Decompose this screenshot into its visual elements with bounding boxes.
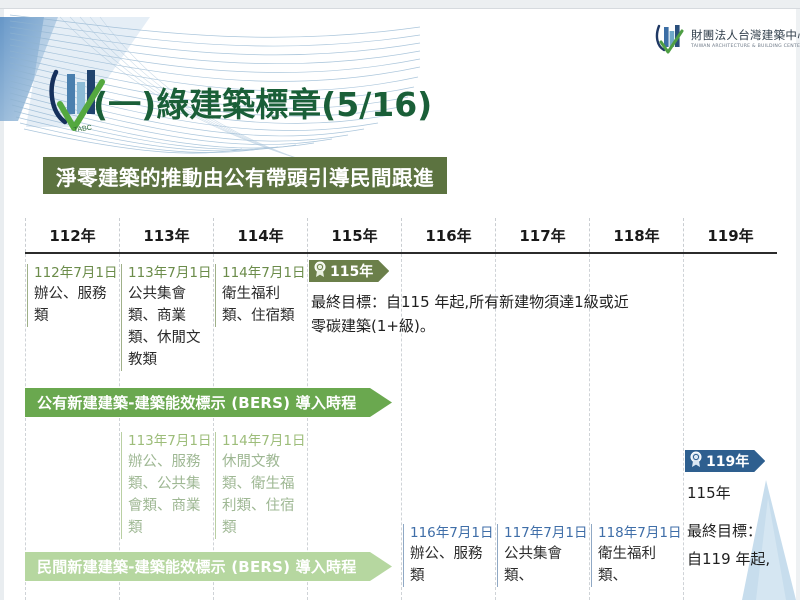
private-block-117-body: 公共集會類、 [504, 543, 589, 587]
public-block-113-body: 公共集會類、商業類、休閒文教類 [128, 283, 213, 371]
grid-line-7 [683, 254, 684, 600]
public-block-114-date: 114年7月1日 [222, 264, 307, 283]
svg-text:TABC: TABC [73, 125, 92, 134]
year-label-112: 112年 [25, 218, 119, 252]
milestone-badge-115-label: 115年 [330, 261, 373, 281]
public-bers-banner: 公有新建建築-建築能效標示 (BERS) 導入時程 [25, 388, 392, 417]
page-title: (一)綠建築標章(5/16) [93, 78, 432, 126]
private-block-114-body: 休閒文教類、衛生福利類、住宿類 [222, 451, 307, 539]
milestone-badge-119-label: 119年 [706, 451, 749, 471]
public-block-112-body: 辦公、服務類 [34, 283, 119, 327]
private-block-114: 114年7月1日 休閒文教類、衛生福利類、住宿類 [215, 432, 307, 539]
public-block-112: 112年7月1日 辦公、服務類 [27, 264, 119, 327]
private-block-118-body: 衛生福利類、 [598, 543, 683, 587]
private-block-114-date: 114年7月1日 [222, 432, 307, 451]
public-block-114-body: 衛生福利類、住宿類 [222, 283, 307, 327]
year-label-118: 118年 [589, 218, 683, 252]
public-block-114: 114年7月1日 衛生福利類、住宿類 [215, 264, 307, 327]
milestone-badge-115: 115年 [309, 260, 389, 282]
slide-top-border [0, 0, 800, 9]
year-label-115: 115年 [307, 218, 401, 252]
year-label-117: 117年 [495, 218, 589, 252]
private-block-116-body: 辦公、服務類 [410, 543, 495, 587]
grid-line-3 [307, 254, 308, 600]
slide-right-border [796, 9, 800, 600]
private-milestone-line1: 115年 [687, 480, 731, 506]
private-block-116-date: 116年7月1日 [410, 524, 495, 543]
year-label-119: 119年 [683, 218, 777, 252]
private-milestone-line2: 最終目標： [687, 518, 762, 544]
year-label-116: 116年 [401, 218, 495, 252]
grid-line-0 [25, 254, 26, 600]
private-block-113-date: 113年7月1日 [128, 432, 213, 451]
timeline-chart: 112年 113年 114年 115年 116年 117年 118年 119年 … [25, 218, 777, 600]
private-block-117: 117年7月1日 公共集會類、 [497, 524, 589, 587]
private-milestone-line3: 自119 年起, [687, 546, 770, 572]
private-block-113: 113年7月1日 辦公、服務類、公共集會類、商業類 [121, 432, 213, 539]
brand-name-en: TAIWAN ARCHITECTURE & BUILDING CENTER [691, 45, 800, 50]
private-block-118-date: 118年7月1日 [598, 524, 683, 543]
subtitle-banner: 淨零建築的推動由公有帶頭引導民間跟進 [43, 157, 447, 194]
year-label-114: 114年 [213, 218, 307, 252]
private-block-118: 118年7月1日 衛生福利類、 [591, 524, 683, 587]
milestone-badge-119: 119年 [685, 450, 765, 472]
private-block-116: 116年7月1日 辦公、服務類 [403, 524, 495, 587]
medal-seal-icon [689, 451, 703, 472]
public-block-113-date: 113年7月1日 [128, 264, 213, 283]
grid-line-1 [119, 254, 120, 600]
timeline-year-header: 112年 113年 114年 115年 116年 117年 118年 119年 [25, 218, 777, 252]
slide-canvas: 財團法人台灣建築中心 TAIWAN ARCHITECTURE & BUILDIN… [0, 0, 800, 600]
brand-name-cn: 財團法人台灣建築中心 [691, 28, 800, 42]
public-block-112-date: 112年7月1日 [34, 264, 119, 283]
private-block-113-body: 辦公、服務類、公共集會類、商業類 [128, 451, 213, 539]
slide-left-border [0, 9, 4, 600]
year-label-113: 113年 [119, 218, 213, 252]
medal-seal-icon [313, 261, 327, 282]
public-milestone-text: 最終目標：自115 年起,所有新建物須達1級或近零碳建築(1+級)。 [311, 290, 641, 338]
private-bers-banner: 民間新建建築-建築能效標示 (BERS) 導入時程 [25, 552, 392, 581]
private-block-117-date: 117年7月1日 [504, 524, 589, 543]
grid-line-2 [213, 254, 214, 600]
tabc-building-logo-icon [655, 22, 685, 54]
public-block-113: 113年7月1日 公共集會類、商業類、休閒文教類 [121, 264, 213, 371]
brand-logo: 財團法人台灣建築中心 TAIWAN ARCHITECTURE & BUILDIN… [655, 22, 800, 54]
